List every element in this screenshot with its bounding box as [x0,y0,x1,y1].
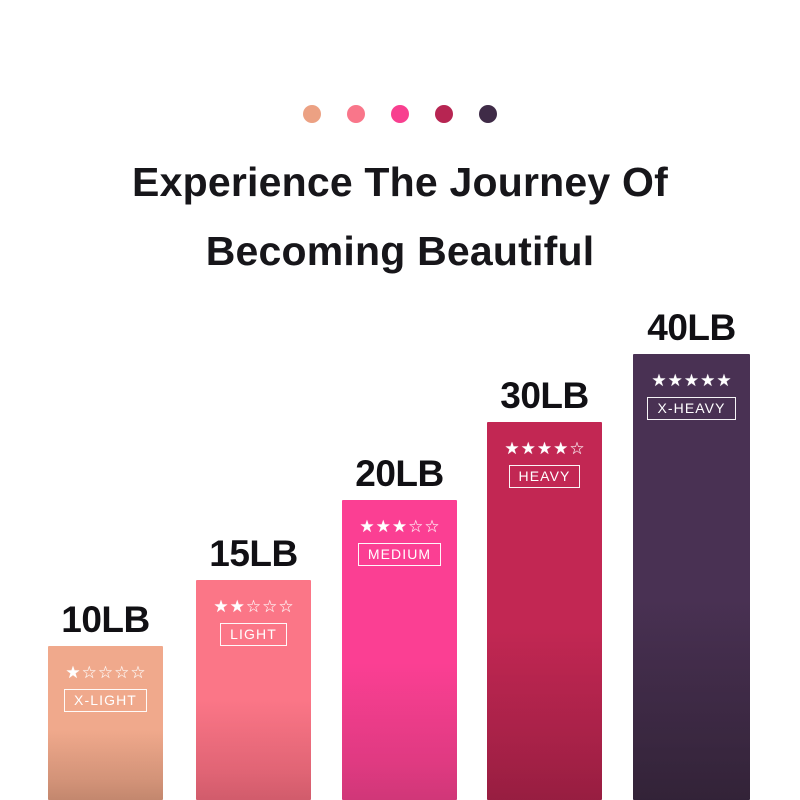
bar-x-light-star-rating: ★☆☆☆☆ [65,664,145,681]
bar-medium[interactable]: 20LB★★★☆☆MEDIUM [342,448,457,800]
star-filled-icon: ★ [651,372,666,389]
star-empty-icon: ☆ [424,518,439,535]
bar-x-light-weight-label: 10LB [61,601,149,638]
star-filled-icon: ★ [716,372,731,389]
star-filled-icon: ★ [392,518,407,535]
bar-heavy-shading [487,626,602,800]
bar-x-heavy-shading [633,595,750,800]
bar-light-weight-label: 15LB [209,535,297,572]
resistance-bar-chart: 10LB★☆☆☆☆X-LIGHT15LB★★☆☆☆LIGHT20LB★★★☆☆M… [0,0,800,800]
bar-x-heavy-tier-label: X-HEAVY [647,397,735,420]
star-filled-icon: ★ [213,598,228,615]
infographic-root: Experience The Journey Of Becoming Beaut… [0,0,800,800]
star-filled-icon: ★ [230,598,245,615]
bar-medium-star-rating: ★★★☆☆ [359,518,439,535]
star-filled-icon: ★ [504,440,519,457]
star-filled-icon: ★ [376,518,391,535]
bar-light-badge: ★★☆☆☆LIGHT [196,598,311,646]
bar-x-light[interactable]: 10LB★☆☆☆☆X-LIGHT [48,594,163,800]
bar-heavy-star-rating: ★★★★☆ [504,440,584,457]
bar-x-light-tier-label: X-LIGHT [64,689,147,712]
bar-heavy-weight-label: 30LB [500,377,588,414]
bar-x-light-shading [48,729,163,800]
bar-x-heavy-weight-label: 40LB [647,309,735,346]
bar-x-heavy-star-rating: ★★★★★ [651,372,731,389]
bar-x-heavy[interactable]: 40LB★★★★★X-HEAVY [633,302,750,800]
bar-x-light-badge: ★☆☆☆☆X-LIGHT [48,664,163,712]
star-empty-icon: ☆ [569,440,584,457]
bar-medium-badge: ★★★☆☆MEDIUM [342,518,457,566]
bar-medium-shading [342,662,457,800]
bar-heavy-tier-label: HEAVY [509,465,581,488]
bar-medium-weight-label: 20LB [355,455,443,492]
bar-x-heavy-badge: ★★★★★X-HEAVY [633,372,750,420]
star-empty-icon: ☆ [98,664,113,681]
bar-light[interactable]: 15LB★★☆☆☆LIGHT [196,528,311,800]
bar-light-star-rating: ★★☆☆☆ [213,598,293,615]
star-filled-icon: ★ [65,664,80,681]
star-filled-icon: ★ [537,440,552,457]
star-filled-icon: ★ [553,440,568,457]
star-filled-icon: ★ [668,372,683,389]
star-empty-icon: ☆ [82,664,97,681]
star-filled-icon: ★ [359,518,374,535]
star-empty-icon: ☆ [278,598,293,615]
bar-heavy[interactable]: 30LB★★★★☆HEAVY [487,370,602,800]
star-empty-icon: ☆ [246,598,261,615]
bar-x-heavy-column[interactable] [633,354,750,800]
bar-light-tier-label: LIGHT [220,623,287,646]
star-filled-icon: ★ [684,372,699,389]
star-empty-icon: ☆ [262,598,277,615]
star-filled-icon: ★ [521,440,536,457]
bar-light-shading [196,699,311,800]
star-empty-icon: ☆ [408,518,423,535]
star-filled-icon: ★ [700,372,715,389]
bar-medium-tier-label: MEDIUM [358,543,441,566]
star-empty-icon: ☆ [130,664,145,681]
bar-heavy-badge: ★★★★☆HEAVY [487,440,602,488]
star-empty-icon: ☆ [114,664,129,681]
